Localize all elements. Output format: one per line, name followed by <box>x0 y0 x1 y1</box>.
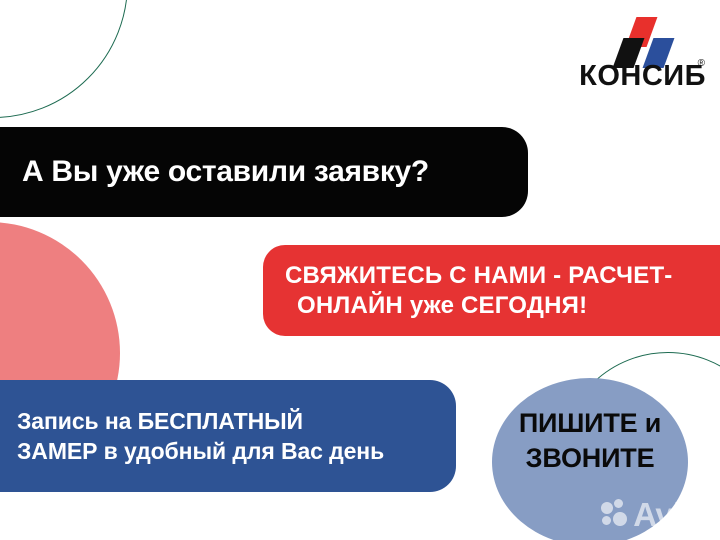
promo-poster: КОНСИБ ® А Вы уже оставили заявку? СВЯЖИ… <box>0 0 720 540</box>
avito-watermark-text: Avito <box>633 498 712 531</box>
measurement-banner: Запись на БЕСПЛАТНЫЙ ЗАМЕР в удобный для… <box>0 380 456 492</box>
green-ring-top-left-decoration <box>0 0 128 118</box>
contact-banner-line-1: СВЯЖИТЕСЬ С НАМИ - РАСЧЕТ- <box>285 261 673 290</box>
avito-dot-1 <box>601 502 613 514</box>
avito-dot-2 <box>614 499 623 508</box>
contact-banner: СВЯЖИТЕСЬ С НАМИ - РАСЧЕТ- ОНЛАЙН уже СЕ… <box>263 245 720 336</box>
cta-line-2: ЗВОНИТЕ <box>526 441 655 476</box>
avito-dot-4 <box>613 512 627 526</box>
logo-wordmark: КОНСИБ <box>560 62 706 91</box>
logo-mark-icon <box>560 16 706 64</box>
brand-logo: КОНСИБ ® <box>560 16 706 102</box>
avito-watermark: Avito <box>601 494 712 534</box>
cta-line-1: ПИШИТЕ и <box>519 406 661 441</box>
registered-trademark-icon: ® <box>698 59 705 69</box>
avito-dot-3 <box>602 516 611 525</box>
measurement-banner-line-1: Запись на БЕСПЛАТНЫЙ <box>17 406 456 436</box>
contact-banner-line-2-today: СЕГОДНЯ! <box>461 292 587 319</box>
contact-banner-line-2: ОНЛАЙН уже СЕГОДНЯ! <box>285 291 587 320</box>
question-banner-text: А Вы уже оставили заявку? <box>22 155 528 189</box>
avito-dots-icon <box>601 499 631 529</box>
contact-banner-line-2-online: ОНЛАЙН <box>297 292 403 319</box>
question-banner: А Вы уже оставили заявку? <box>0 127 528 217</box>
contact-banner-line-2-already: уже <box>410 292 454 319</box>
measurement-banner-line-2: ЗАМЕР в удобный для Вас день <box>17 436 456 466</box>
